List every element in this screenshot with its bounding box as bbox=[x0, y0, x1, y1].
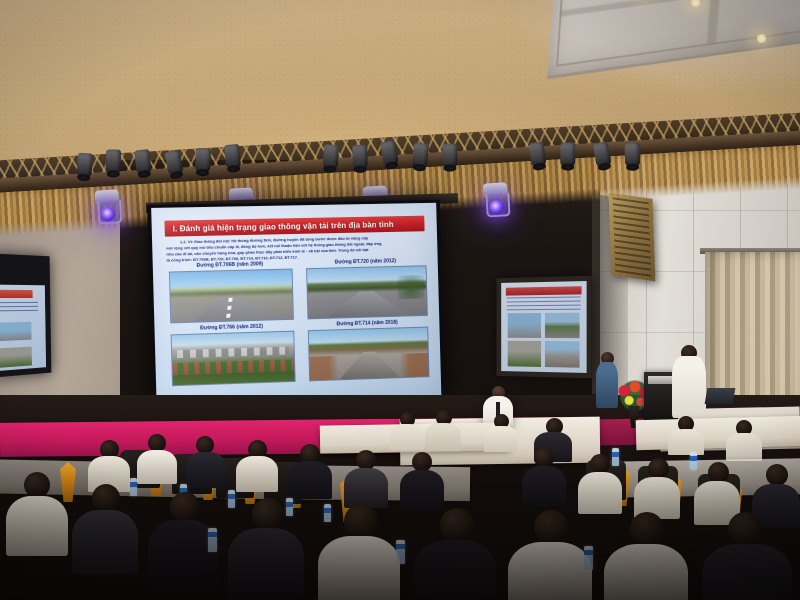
right-screen-content bbox=[501, 281, 586, 373]
right-screen-photo-2 bbox=[545, 312, 580, 338]
right-screen-photo-grid bbox=[508, 312, 580, 367]
moving-head-spotlight bbox=[94, 189, 120, 224]
audience-person bbox=[186, 452, 226, 488]
photo-cell: Đường ĐT.706B (năm 2009) bbox=[169, 261, 292, 324]
audience-head bbox=[440, 508, 474, 542]
audience-person bbox=[425, 423, 461, 451]
water-bottle bbox=[584, 546, 593, 570]
audience-person bbox=[604, 544, 688, 600]
audience-head bbox=[92, 484, 120, 512]
left-screen-photo-2 bbox=[0, 347, 32, 369]
can-light-icon bbox=[195, 148, 211, 173]
audience-head bbox=[708, 462, 729, 483]
audience-person bbox=[668, 429, 704, 455]
audience-person bbox=[400, 470, 444, 510]
water-bottle bbox=[228, 490, 235, 508]
slide-photo-grid: Đường ĐT.706B (năm 2009) Đường ĐT.720 (n… bbox=[169, 258, 428, 387]
moving-head-spotlight bbox=[483, 182, 509, 217]
audience-head bbox=[766, 464, 788, 486]
audience-person bbox=[228, 528, 304, 598]
water-bottle bbox=[612, 448, 619, 466]
right-screen-text-lines bbox=[507, 297, 580, 310]
water-bottle bbox=[324, 504, 331, 522]
water-bottle bbox=[690, 452, 697, 470]
audience-head bbox=[534, 448, 554, 468]
can-light-icon bbox=[625, 143, 641, 167]
can-light-icon bbox=[106, 149, 121, 173]
audience-head bbox=[412, 452, 432, 472]
audience-head bbox=[728, 512, 762, 546]
audience-head bbox=[590, 454, 610, 474]
left-screen-photo-1 bbox=[0, 322, 31, 342]
audience-head bbox=[252, 498, 284, 530]
audience-person bbox=[288, 461, 332, 499]
slide-title: I. Đánh giá hiện trạng giao thông vận tả… bbox=[165, 220, 394, 233]
photo-dt720 bbox=[306, 265, 428, 319]
audience-person bbox=[72, 510, 138, 574]
right-screen-photo-1 bbox=[508, 313, 541, 339]
can-light-icon bbox=[134, 149, 152, 175]
audience-person bbox=[137, 450, 177, 484]
photo-dt714 bbox=[308, 327, 430, 382]
audience-person bbox=[578, 472, 622, 514]
can-light-icon bbox=[224, 144, 241, 169]
left-screen-title-bar bbox=[0, 290, 33, 299]
slide-title-bar: I. Đánh giá hiện trạng giao thông vận tả… bbox=[164, 216, 424, 237]
photo-dt766 bbox=[171, 331, 296, 387]
audience-person bbox=[344, 468, 388, 508]
left-screen-content bbox=[0, 285, 46, 371]
audience-person bbox=[390, 424, 424, 450]
audience-person bbox=[318, 536, 400, 600]
downlight-icon bbox=[755, 34, 768, 43]
audience-person bbox=[414, 540, 496, 600]
water-bottle bbox=[286, 498, 293, 516]
audience-person bbox=[236, 456, 278, 492]
audience-person bbox=[522, 466, 566, 506]
audience-person bbox=[726, 433, 762, 461]
audience-head bbox=[648, 458, 669, 479]
photo-cell: Đường ĐT.714 (năm 2018) bbox=[308, 319, 428, 382]
audience-head bbox=[170, 492, 200, 522]
audience-person bbox=[508, 542, 592, 600]
audience-head bbox=[630, 512, 664, 546]
left-screen-text-lines bbox=[0, 302, 39, 313]
can-light-icon bbox=[323, 144, 339, 169]
right-screen-title-bar bbox=[506, 286, 581, 295]
speaker-grille bbox=[613, 197, 652, 276]
can-light-icon bbox=[352, 145, 368, 169]
water-bottle bbox=[130, 478, 137, 496]
presentation-slide: I. Đánh giá hiện trạng giao thông vận tả… bbox=[151, 203, 441, 408]
audience-table bbox=[636, 416, 800, 450]
audience-person bbox=[702, 544, 792, 600]
water-bottle bbox=[396, 540, 405, 564]
can-light-icon bbox=[560, 143, 575, 167]
can-light-icon bbox=[412, 143, 429, 168]
conference-hall-photo: I. Đánh giá hiện trạng giao thông vận tả… bbox=[0, 0, 800, 600]
audience-head bbox=[344, 504, 378, 538]
right-projection-screen bbox=[497, 276, 592, 378]
main-projection-screen: I. Đánh giá hiện trạng giao thông vận tả… bbox=[147, 200, 445, 415]
left-projection-screen bbox=[0, 254, 51, 378]
photo-cell: Đường ĐT.720 (năm 2012) bbox=[306, 258, 426, 320]
can-light-icon bbox=[76, 153, 93, 178]
photo-cell: Đường ĐT.766 (năm 2012) bbox=[170, 323, 293, 386]
audience-area bbox=[0, 400, 800, 600]
right-screen-photo-4 bbox=[545, 341, 580, 367]
water-bottle bbox=[208, 528, 217, 552]
audience-head bbox=[534, 510, 568, 544]
audience-person bbox=[6, 496, 68, 556]
audience-head bbox=[24, 472, 50, 498]
photo-dt706b bbox=[169, 269, 294, 324]
can-light-icon bbox=[442, 144, 457, 168]
av-monitor bbox=[648, 376, 674, 384]
audience-person bbox=[484, 426, 518, 452]
audience-head bbox=[356, 450, 376, 470]
right-screen-photo-3 bbox=[508, 341, 541, 367]
chair-bow bbox=[60, 462, 76, 502]
